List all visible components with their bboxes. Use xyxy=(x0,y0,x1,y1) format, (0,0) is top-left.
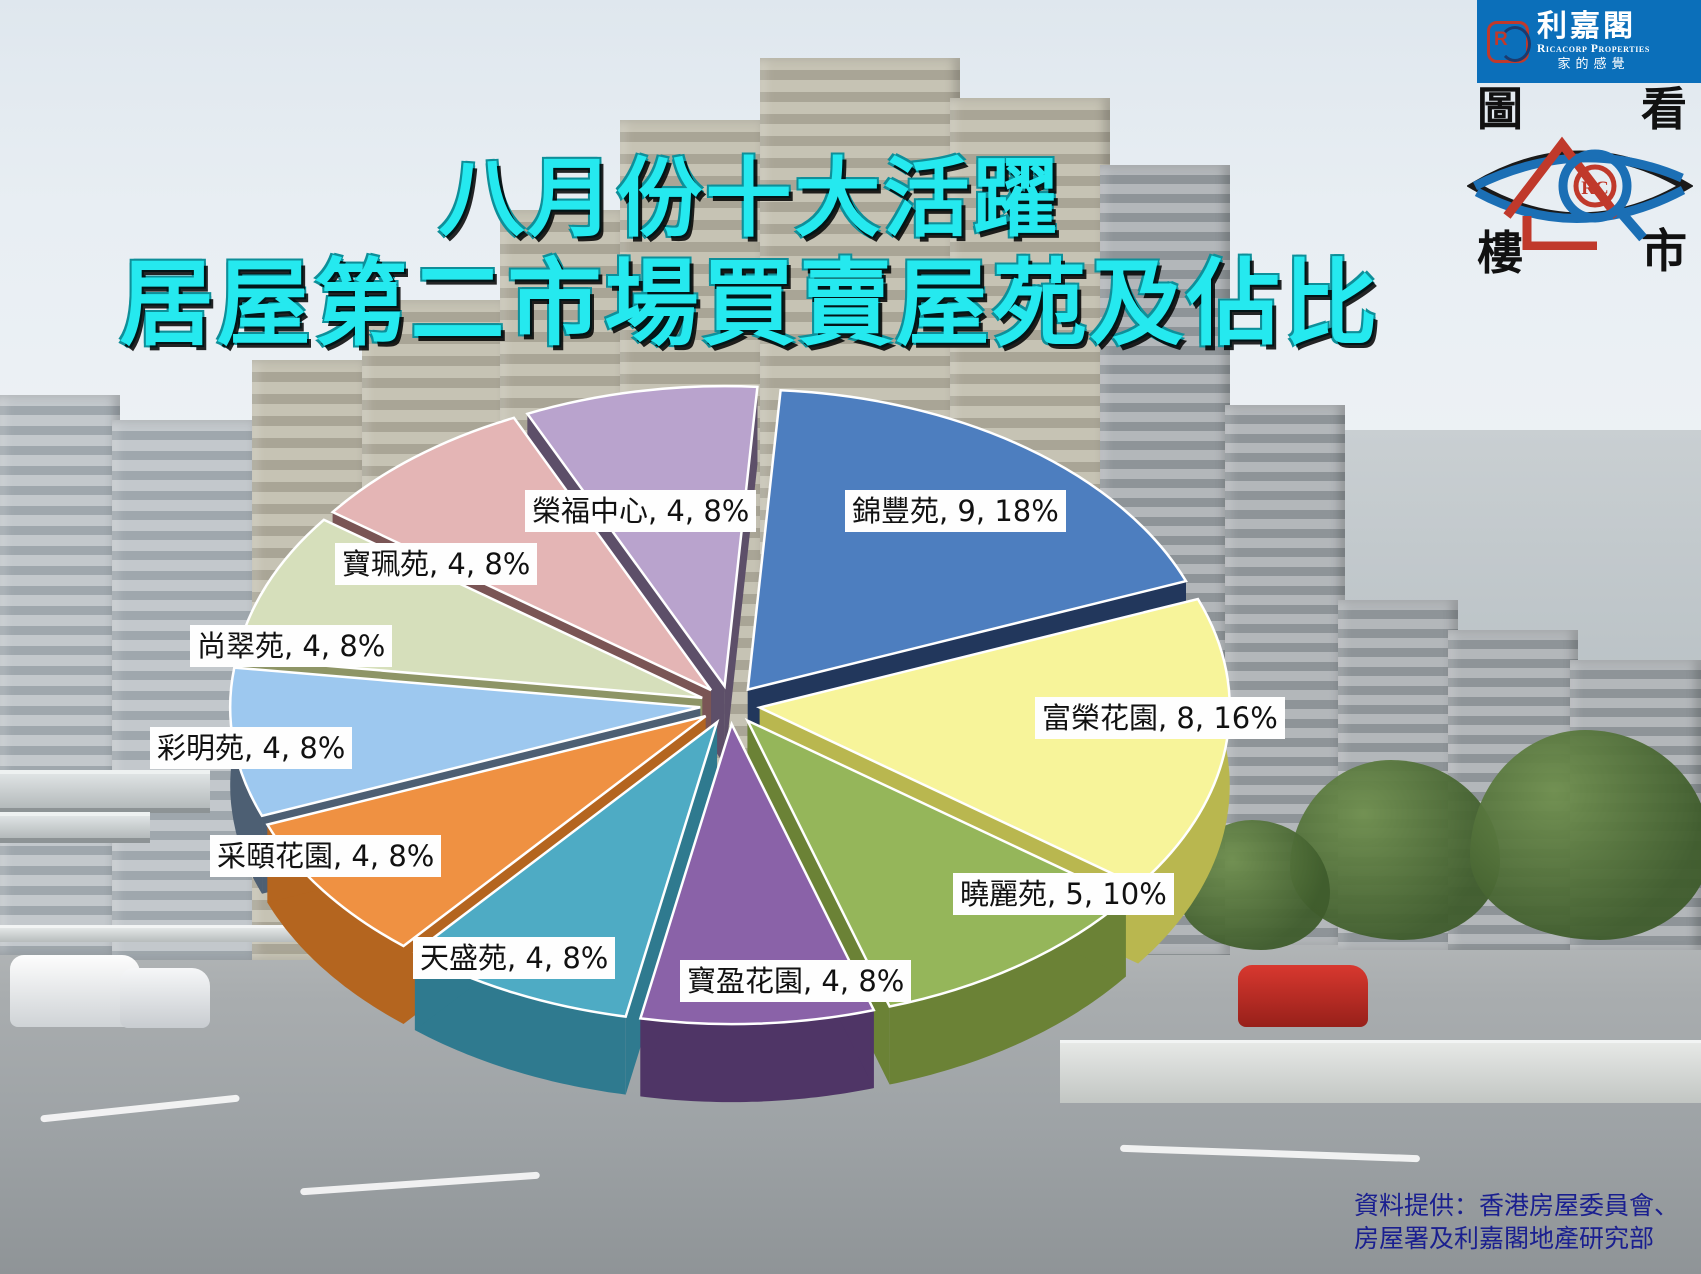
pie-label-rongfuzhongxin: 榮福中心, 4, 8% xyxy=(525,490,756,532)
tukan-lousi-emblem: 圖 看 樓 市 RC xyxy=(1467,86,1693,276)
slide-canvas: 八月份十大活躍 居屋第二市場買賣屋苑及佔比 R 利嘉閣 Ricacorp Pro… xyxy=(0,0,1701,1274)
rc-monogram-icon: R xyxy=(1485,19,1531,65)
pie-label-shangcuiyuan: 尚翠苑, 4, 8% xyxy=(190,625,392,667)
pie-chart-svg xyxy=(120,455,1340,1175)
ricacorp-logo: R 利嘉閣 Ricacorp Properties 家的感覺 xyxy=(1477,0,1701,83)
logo-slogan: 家的感覺 xyxy=(1537,58,1650,71)
svg-text:RC: RC xyxy=(1581,178,1608,199)
pie-label-caimingyuan: 彩明苑, 4, 8% xyxy=(150,727,352,769)
source-note: 資料提供：香港房屋委員會、 房屋署及利嘉閣地產研究部 xyxy=(1354,1189,1679,1257)
pie-label-xiaoliyuan: 曉麗苑, 5, 10% xyxy=(953,873,1174,915)
building-tower xyxy=(0,395,120,955)
pie-chart: 錦豐苑, 9, 18% 富榮花園, 8, 16% 曉麗苑, 5, 10% 寶盈花… xyxy=(120,455,1340,1175)
pie-label-furonghuayuan: 富榮花園, 8, 16% xyxy=(1035,697,1285,739)
pie-label-jinfengyuan: 錦豐苑, 9, 18% xyxy=(845,490,1066,532)
eye-icon: RC xyxy=(1467,120,1693,250)
logo-chinese-name: 利嘉閣 xyxy=(1537,12,1650,42)
pie-label-baoyinghuayuan: 寶盈花園, 4, 8% xyxy=(680,960,911,1002)
logo-english-name: Ricacorp Properties xyxy=(1537,44,1650,56)
source-line-2: 房屋署及利嘉閣地產研究部 xyxy=(1354,1222,1679,1256)
pie-label-baopeiyuan: 寶珮苑, 4, 8% xyxy=(335,543,537,585)
pie-label-caiyihuayuan: 采頤花園, 4, 8% xyxy=(210,835,441,877)
source-line-1: 資料提供：香港房屋委員會、 xyxy=(1354,1189,1679,1223)
pie-label-tianshengyuan: 天盛苑, 4, 8% xyxy=(413,937,615,979)
